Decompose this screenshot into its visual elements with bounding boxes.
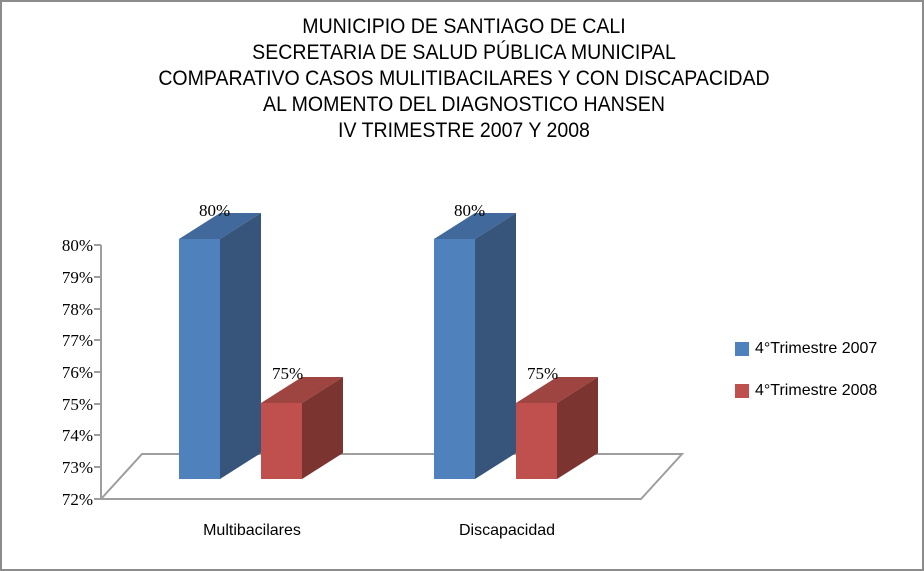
x-axis-label-discapacidad: Discapacidad: [412, 522, 602, 540]
plot-area: 80% 79% 78% 77% 76% 75% 74% 73% 72% 80% …: [2, 2, 924, 571]
legend-item-2007[interactable]: 4°Trimestre 2007: [735, 338, 920, 360]
y-tick-label: 75%: [35, 396, 93, 413]
data-label-multibacilares-2007: 80%: [199, 201, 230, 221]
y-tick-label: 77%: [35, 332, 93, 349]
legend-item-2008[interactable]: 4°Trimestre 2008: [735, 380, 920, 402]
legend-label: 4°Trimestre 2008: [755, 382, 877, 400]
y-axis-labels: 80% 79% 78% 77% 76% 75% 74% 73% 72%: [35, 2, 93, 571]
chart-legend: 4°Trimestre 2007 4°Trimestre 2008: [735, 338, 920, 422]
plot-graphics: [2, 2, 924, 571]
bar-multibacilares-2007[interactable]: [179, 213, 261, 479]
x-axis-label-multibacilares: Multibacilares: [157, 522, 347, 540]
y-axis-ticks: [94, 245, 101, 499]
y-tick-label: 76%: [35, 364, 93, 381]
y-tick-label: 72%: [35, 491, 93, 508]
y-tick-label: 74%: [35, 427, 93, 444]
legend-swatch-icon: [735, 342, 749, 356]
data-label-multibacilares-2008: 75%: [272, 364, 303, 384]
data-label-discapacidad-2008: 75%: [527, 364, 558, 384]
y-tick-label: 73%: [35, 459, 93, 476]
data-label-discapacidad-2007: 80%: [454, 201, 485, 221]
bar-discapacidad-2007[interactable]: [434, 213, 516, 479]
y-tick-label: 80%: [35, 237, 93, 254]
y-tick-label: 79%: [35, 269, 93, 286]
chart-container: MUNICIPIO DE SANTIAGO DE CALI SECRETARIA…: [0, 0, 924, 571]
legend-swatch-icon: [735, 384, 749, 398]
y-tick-label: 78%: [35, 301, 93, 318]
legend-label: 4°Trimestre 2007: [755, 340, 877, 358]
